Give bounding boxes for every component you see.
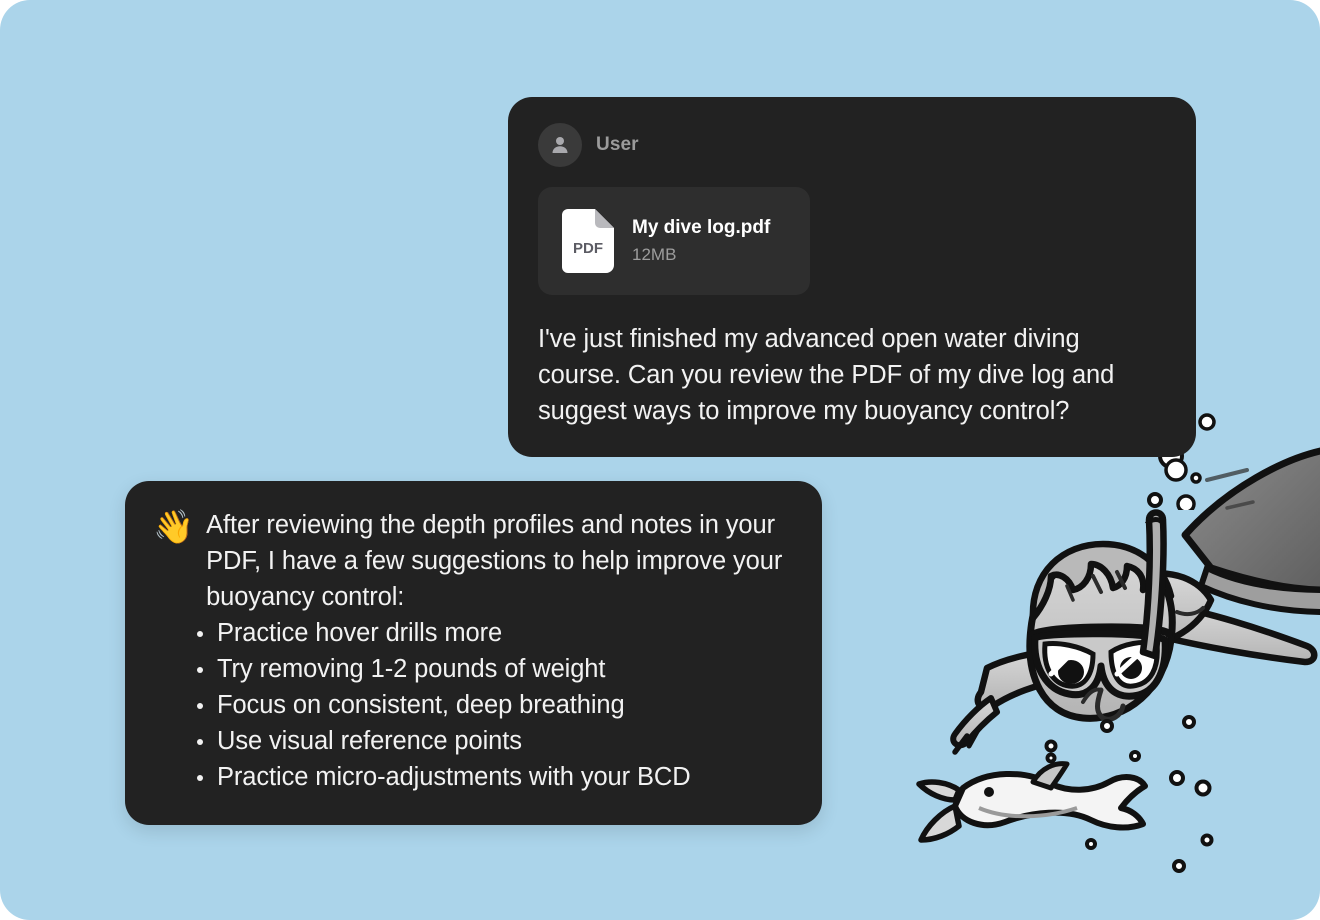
person-avatar-icon bbox=[538, 123, 582, 167]
list-item: Try removing 1-2 pounds of weight bbox=[191, 651, 794, 687]
list-item: Practice micro-adjustments with your BCD bbox=[191, 759, 794, 795]
user-message-bubble: User PDF My dive log.pdf 12MB I've just … bbox=[508, 97, 1196, 457]
user-message-text: I've just finished my advanced open wate… bbox=[538, 321, 1166, 429]
user-message-header: User bbox=[538, 123, 1166, 167]
list-item: Focus on consistent, deep breathing bbox=[191, 687, 794, 723]
assistant-intro-row: 👋 After reviewing the depth profiles and… bbox=[153, 507, 794, 615]
pdf-icon-label: PDF bbox=[573, 240, 603, 257]
attachment-card[interactable]: PDF My dive log.pdf 12MB bbox=[538, 187, 810, 295]
list-item: Use visual reference points bbox=[191, 723, 794, 759]
screenshot-canvas: User PDF My dive log.pdf 12MB I've just … bbox=[0, 0, 1320, 920]
waving-hand-emoji: 👋 bbox=[153, 509, 194, 545]
list-item: Practice hover drills more bbox=[191, 615, 794, 651]
assistant-message-bubble: 👋 After reviewing the depth profiles and… bbox=[125, 481, 822, 825]
pdf-file-icon: PDF bbox=[562, 209, 614, 273]
suggestions-list: Practice hover drills more Try removing … bbox=[153, 615, 794, 795]
attachment-filesize: 12MB bbox=[632, 245, 770, 265]
assistant-intro-text: After reviewing the depth profiles and n… bbox=[206, 507, 794, 615]
attachment-filename: My dive log.pdf bbox=[632, 217, 770, 239]
sender-name: User bbox=[596, 134, 639, 156]
snorkeler-underwater-illustration bbox=[855, 440, 1320, 920]
